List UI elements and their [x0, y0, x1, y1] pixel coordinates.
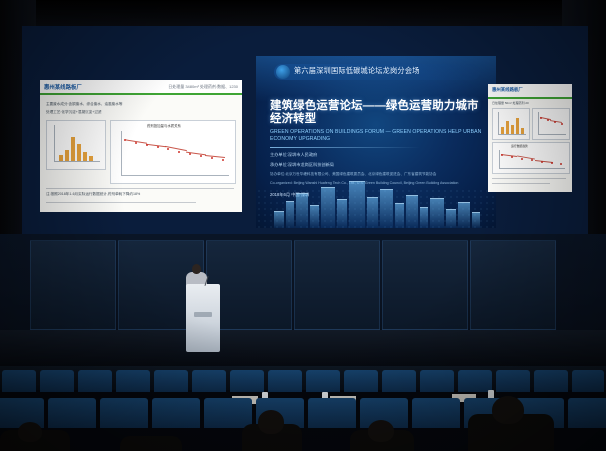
audience-member [120, 436, 182, 451]
left-slide-bar-chart [46, 120, 106, 170]
podium [186, 284, 220, 352]
led-screen: 惠州某线路板厂 日处理量 3480m³ 处理药剂:数据、1230 主要废水成分:… [22, 26, 588, 234]
right-slide-header: 惠州某线路板厂 [488, 84, 572, 98]
chair [382, 370, 416, 392]
chair [268, 370, 302, 392]
chair [344, 370, 378, 392]
chair [230, 370, 264, 392]
chair [192, 370, 226, 392]
right-slide: 惠州某线路板厂 日处理量 50m³ 处理药剂:20 [488, 84, 572, 192]
forum-title-en: GREEN OPERATIONS ON BUILDINGS FORUM — GR… [270, 129, 484, 142]
chair [308, 398, 356, 428]
chair [572, 370, 604, 392]
left-slide-header-right: 日处理量 3480m³ 处理药剂:数据、1230 [168, 84, 238, 90]
left-slide-line-chart: 药剂投加量与水质关系 [110, 120, 236, 184]
forum-host: 主办单位:深圳市人民政府 [270, 152, 484, 158]
left-slide-logo: 惠州某线路板厂 [44, 83, 82, 91]
chair [78, 370, 112, 392]
audience-head [492, 396, 524, 424]
forum-banner-text: 第六届深圳国际低碳城论坛龙岗分会场 [294, 66, 420, 76]
left-slide-header: 惠州某线路板厂 日处理量 3480m³ 处理药剂:数据、1230 [40, 80, 242, 94]
podium-emblem [194, 312, 212, 317]
ceiling [0, 0, 606, 28]
right-slide-logo: 惠州某线路板厂 [492, 87, 523, 93]
chair [306, 370, 340, 392]
chair [204, 398, 252, 428]
right-slide-header-right: 日处理量 50m³ 处理药剂:20 [492, 101, 529, 105]
left-slide-meta-1: 主要废水成分:含铜废水、综合废水、油墨废水等 [46, 102, 122, 107]
audience-head [368, 420, 394, 442]
chair [152, 398, 200, 428]
right-slide-mini-chart [532, 108, 570, 140]
left-slide: 惠州某线路板厂 日处理量 3480m³ 处理药剂:数据、1230 主要废水成分:… [40, 80, 242, 212]
led-main-title-panel: 第六届深圳国际低碳城论坛龙岗分会场 建筑绿色运营论坛——绿色运营助力城市经济转型… [256, 56, 496, 228]
right-slide-line-chart: 运行数据趋势 [492, 142, 570, 174]
chair [154, 370, 188, 392]
stage-area [0, 234, 606, 366]
chair [496, 370, 530, 392]
chair [534, 370, 568, 392]
conference-hall-photo: 惠州某线路板厂 日处理量 3480m³ 处理药剂:数据、1230 主要废水成分:… [0, 0, 606, 451]
left-slide-footer-note: 注:按照2018年1-6月实际运行数据统计,药剂单耗下降约18% [46, 192, 140, 197]
right-slide-bar-chart [492, 108, 530, 140]
right-slide-green-divider [488, 97, 572, 99]
chair [412, 398, 460, 428]
audience-head [18, 422, 42, 442]
left-slide-chart-title: 药剂投加量与水质关系 [147, 123, 181, 128]
chair [48, 398, 96, 428]
chair [116, 370, 150, 392]
audience-head [258, 410, 284, 434]
chair [100, 398, 148, 428]
right-slide-chart-title: 运行数据趋势 [511, 144, 528, 148]
chair [2, 370, 36, 392]
forum-title-cn: 建筑绿色运营论坛——绿色运营助力城市经济转型 [270, 100, 484, 126]
chair [458, 370, 492, 392]
chair [568, 398, 606, 428]
title-divider [270, 147, 420, 148]
stage-floor [0, 330, 606, 370]
city-skyline-graphic [256, 172, 496, 228]
speaker-head [192, 264, 201, 274]
forum-logo-badge [276, 65, 290, 79]
left-slide-green-divider [40, 93, 242, 95]
forum-organizer-1: 承办单位:深圳市龙岗区科技创新局 [270, 162, 484, 168]
chair [420, 370, 454, 392]
left-slide-meta-2: 处理工艺:化学沉淀+混凝沉淀+过滤 [46, 110, 102, 115]
chair [40, 370, 74, 392]
